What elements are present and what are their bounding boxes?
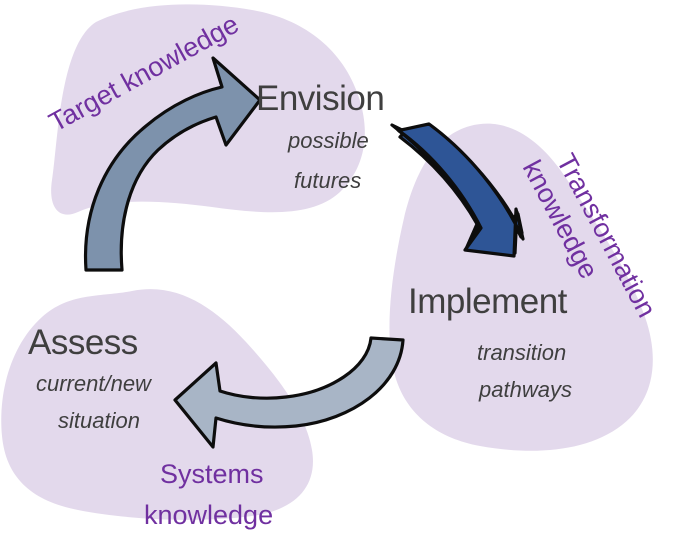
phase-assess-title: Assess bbox=[28, 323, 138, 362]
phase-implement-title: Implement bbox=[408, 282, 568, 321]
phase-implement-subtitle-line-1: transition bbox=[477, 340, 566, 365]
phase-implement-subtitle-line-2: pathways bbox=[478, 377, 572, 402]
phase-envision-subtitle-line-2: futures bbox=[294, 168, 361, 193]
label-systems-knowledge-line-2: knowledge bbox=[144, 500, 273, 530]
label-systems-knowledge-line-1: Systems bbox=[160, 459, 264, 489]
cycle-diagram-svg: Envision possible futures Implement tran… bbox=[0, 0, 685, 534]
phase-assess-subtitle-line-1: current/new bbox=[36, 371, 153, 396]
phase-assess-subtitle-line-2: situation bbox=[58, 408, 140, 433]
diagram-canvas: Envision possible futures Implement tran… bbox=[0, 0, 685, 534]
phase-envision-subtitle-line-1: possible bbox=[287, 128, 369, 153]
phase-envision-title: Envision bbox=[256, 79, 384, 118]
